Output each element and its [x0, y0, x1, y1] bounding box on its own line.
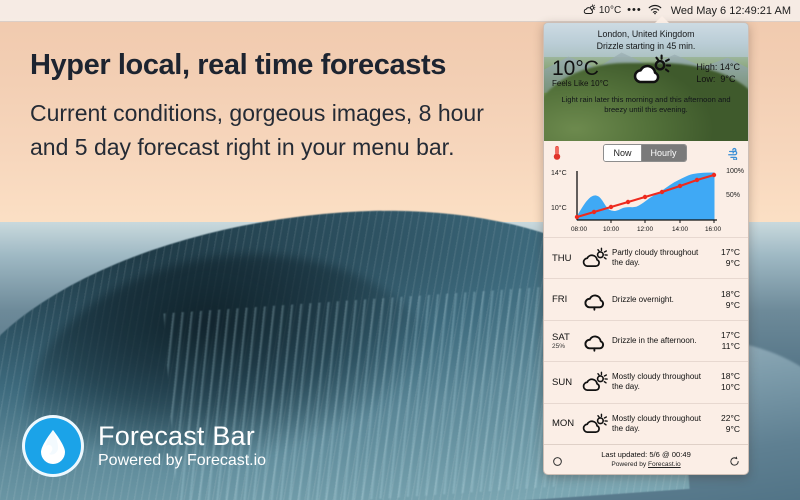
day-temps: 22°C 9°C — [710, 413, 740, 435]
day-precip-pct: 25% — [552, 343, 580, 351]
cloudy-icon — [580, 330, 610, 352]
day-name: FRI — [552, 294, 580, 305]
wind-icon[interactable] — [727, 146, 741, 160]
hero-section: London, United Kingdom Drizzle starting … — [544, 23, 748, 141]
hero-low-value: 9°C — [720, 74, 735, 84]
hero-low-row: Low: 9°C — [696, 73, 740, 85]
powered-by-link[interactable]: Forecast.io — [648, 461, 681, 468]
partly-cloudy-icon — [631, 54, 673, 91]
hero-high-low: High: 14°C Low: 9°C — [696, 61, 740, 85]
screenshot-root: Hyper local, real time forecasts Current… — [0, 0, 800, 500]
brand-tagline: Powered by Forecast.io — [98, 451, 266, 471]
day-low: 9°C — [710, 300, 740, 311]
day-summary: Mostly cloudy throughout the day. — [610, 372, 710, 392]
hero-feels-like: Feels Like 10°C — [552, 79, 609, 89]
day-low: 10°C — [710, 382, 740, 393]
day-high: 17°C — [710, 247, 740, 258]
chart-xtick-2: 12:00 — [637, 226, 653, 233]
table-row[interactable]: THU Partly cloudy throughout the da — [544, 237, 748, 278]
chart-toggle-row: Now Hourly — [544, 141, 748, 165]
panel-footer: Last updated: 5/6 @ 00:49 Powered by For… — [544, 444, 748, 474]
chart-rlabel-100: 100% — [726, 168, 744, 175]
menubar-clock[interactable]: Wed May 6 12:49:21 AM — [671, 5, 791, 17]
day-name: SUN — [552, 377, 580, 388]
powered-by-prefix: Powered by — [611, 461, 648, 468]
day-high: 17°C — [710, 330, 740, 341]
chart-xtick-1: 10:00 — [603, 226, 619, 233]
hero-current-row: 10°C Feels Like 10°C — [544, 52, 748, 91]
day-name-col: THU — [552, 253, 580, 264]
day-high: 18°C — [710, 371, 740, 382]
subcopy: Current conditions, gorgeous images, 8 h… — [30, 96, 520, 164]
day-high: 18°C — [710, 289, 740, 300]
day-name-col: FRI — [552, 294, 580, 305]
day-name: SAT — [552, 332, 580, 343]
day-temps: 18°C 9°C — [710, 289, 740, 311]
day-summary: Mostly cloudy throughout the day. — [610, 414, 710, 434]
footer-text: Last updated: 5/6 @ 00:49 Powered by For… — [563, 450, 729, 469]
mode-segmented-control[interactable]: Now Hourly — [603, 144, 686, 162]
hero-high-row: High: 14°C — [696, 61, 740, 73]
day-high: 22°C — [710, 413, 740, 424]
popover-arrow — [655, 16, 669, 23]
table-row[interactable]: MON Mostly cloudy throughout the da — [544, 403, 748, 444]
water-drop-icon — [22, 415, 84, 477]
table-row[interactable]: SUN Mostly cloudy throughout the da — [544, 361, 748, 402]
day-summary: Partly cloudy throughout the day. — [610, 248, 710, 268]
thermometer-icon[interactable] — [551, 145, 563, 161]
hero-temperature: 10°C — [552, 57, 609, 80]
day-low: 11°C — [710, 341, 740, 352]
hero-high-label: High: — [696, 62, 717, 72]
menubar-weather-item[interactable]: 10°C — [583, 4, 621, 18]
tab-now[interactable]: Now — [604, 145, 641, 161]
daily-forecast-list: THU Partly cloudy throughout the da — [544, 237, 748, 444]
cloudy-icon — [580, 289, 610, 311]
hero-low-label: Low: — [696, 74, 715, 84]
chart-xtick-4: 16:00 — [705, 226, 721, 233]
day-low: 9°C — [710, 258, 740, 269]
table-row[interactable]: FRI Drizzle overnight. 18°C 9°C — [544, 278, 748, 319]
last-updated: Last updated: 5/6 @ 00:49 — [563, 450, 729, 460]
hero-alert: Drizzle starting in 45 min. — [550, 40, 742, 52]
chart-canvas: 08:00 10:00 12:00 14:00 16:00 — [544, 165, 748, 237]
day-summary: Drizzle in the afternoon. — [610, 336, 710, 346]
hero-text-block: London, United Kingdom Drizzle starting … — [544, 23, 748, 52]
chart-ylabel-low: 10°C — [551, 205, 567, 212]
chart-xtick-0: 08:00 — [571, 226, 587, 233]
weather-popover: London, United Kingdom Drizzle starting … — [543, 22, 749, 475]
menubar-temperature: 10°C — [599, 5, 621, 16]
menubar-overflow-dots[interactable]: ••• — [627, 5, 642, 16]
partly-cloudy-icon — [580, 413, 610, 435]
hero-location: London, United Kingdom — [550, 28, 742, 40]
day-name-col: SUN — [552, 377, 580, 388]
partly-cloudy-icon — [580, 371, 610, 393]
day-temps: 17°C 11°C — [710, 330, 740, 352]
day-name-col: MON — [552, 418, 580, 429]
brand-name: Forecast Bar — [98, 421, 266, 451]
tab-hourly[interactable]: Hourly — [642, 145, 686, 161]
refresh-icon[interactable] — [729, 454, 740, 465]
day-temps: 17°C 9°C — [710, 247, 740, 269]
partly-cloudy-icon — [583, 4, 596, 18]
brand-lockup: Forecast Bar Powered by Forecast.io — [22, 415, 266, 477]
day-name: THU — [552, 253, 580, 264]
day-name-col: SAT 25% — [552, 332, 580, 351]
hero-temp-block: 10°C Feels Like 10°C — [552, 57, 609, 89]
hero-high-value: 14°C — [720, 62, 740, 72]
day-low: 9°C — [710, 424, 740, 435]
hero-description: Light rain later this morning and this a… — [544, 91, 748, 115]
chart-ylabel-high: 14°C — [551, 170, 567, 177]
chart-rlabel-50: 50% — [726, 192, 740, 199]
day-summary: Drizzle overnight. — [610, 295, 710, 305]
partly-cloudy-icon — [580, 247, 610, 269]
day-name: MON — [552, 418, 580, 429]
menu-bar: 10°C ••• Wed May 6 12:49:21 AM — [0, 0, 800, 22]
table-row[interactable]: SAT 25% Drizzle in the afternoon. 17°C 1… — [544, 320, 748, 361]
brand-text: Forecast Bar Powered by Forecast.io — [98, 421, 266, 471]
gear-icon[interactable] — [552, 454, 563, 465]
day-temps: 18°C 10°C — [710, 371, 740, 393]
headline: Hyper local, real time forecasts — [30, 48, 530, 82]
menu-bar-status-items: 10°C ••• Wed May 6 12:49:21 AM — [583, 4, 791, 18]
chart-xtick-3: 14:00 — [672, 226, 688, 233]
powered-by: Powered by Forecast.io — [563, 460, 729, 469]
hourly-chart[interactable]: 14°C 10°C 100% 50% — [544, 165, 748, 237]
